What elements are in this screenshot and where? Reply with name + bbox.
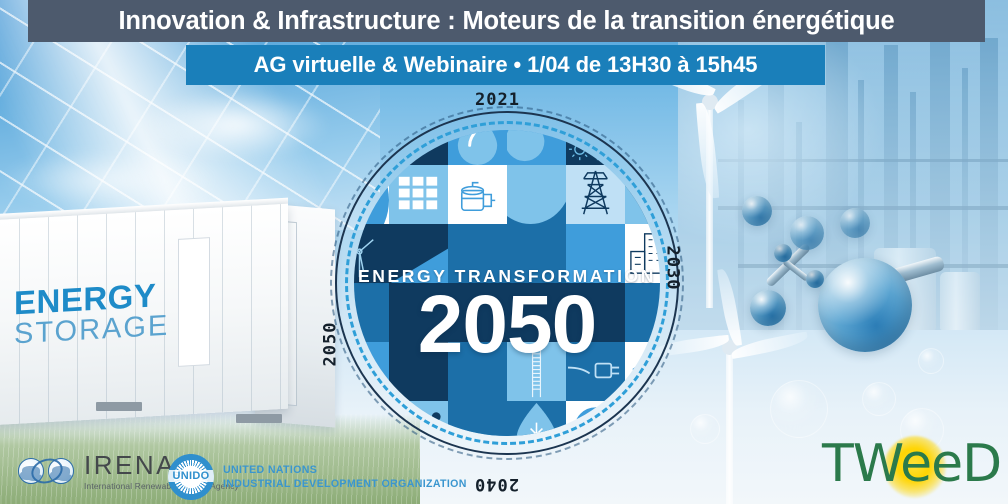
container-foot — [236, 414, 282, 423]
tweed-logo[interactable]: TWeeD — [822, 432, 982, 496]
unido-line1: UNITED NATIONS — [223, 463, 467, 477]
turbine-blade — [730, 331, 809, 360]
unido-logo[interactable]: UNIDO UNITED NATIONS INDUSTRIAL DEVELOPM… — [168, 454, 467, 500]
container-label: ENERGY STORAGE — [14, 278, 169, 350]
molecule-sphere — [750, 290, 786, 326]
bubble — [862, 382, 896, 416]
timeline-mark-2050: 2050 — [320, 322, 340, 367]
banner-title-bar: Innovation & Infrastructure : Moteurs de… — [28, 0, 985, 42]
molecule-sphere — [774, 244, 792, 262]
timeline-mark-2030: 2030 — [662, 246, 682, 291]
banner-subtitle-bar: AG virtuelle & Webinaire • 1/04 de 13H30… — [186, 45, 825, 85]
molecule-sphere — [818, 258, 912, 352]
container-foot — [96, 402, 142, 411]
irena-globes-icon — [18, 456, 76, 486]
page-title: Innovation & Infrastructure : Moteurs de… — [119, 7, 895, 36]
timeline-mark-2021: 2021 — [475, 90, 520, 110]
molecule-sphere — [840, 208, 870, 238]
unido-emblem-icon: UNIDO — [168, 454, 214, 500]
bubble — [770, 380, 828, 438]
molecule-sphere — [806, 270, 824, 288]
molecule-sphere — [790, 216, 824, 250]
unido-acronym: UNIDO — [168, 470, 214, 482]
event-banner: ENERGY STORAGE — [0, 0, 1008, 504]
turbine-blade — [695, 102, 720, 199]
tweed-name: TWeeD — [822, 436, 982, 492]
bubble — [918, 348, 944, 374]
cloud-wisp — [0, 150, 220, 210]
molecule-sphere — [742, 196, 772, 226]
cloud-wisp — [140, 90, 330, 160]
unido-line2: INDUSTRIAL DEVELOPMENT ORGANIZATION — [223, 477, 467, 491]
energy-transformation-dial: ENERGY TRANSFORMATION 2050 2021 2030 204… — [332, 98, 682, 494]
refinery-tower — [980, 38, 998, 330]
dial-target-year: 2050 — [332, 284, 682, 366]
storage-tank — [940, 272, 980, 330]
unido-text: UNITED NATIONS INDUSTRIAL DEVELOPMENT OR… — [223, 463, 467, 492]
container-access-panel — [178, 237, 210, 367]
event-subtitle: AG virtuelle & Webinaire • 1/04 de 13H30… — [254, 52, 758, 78]
